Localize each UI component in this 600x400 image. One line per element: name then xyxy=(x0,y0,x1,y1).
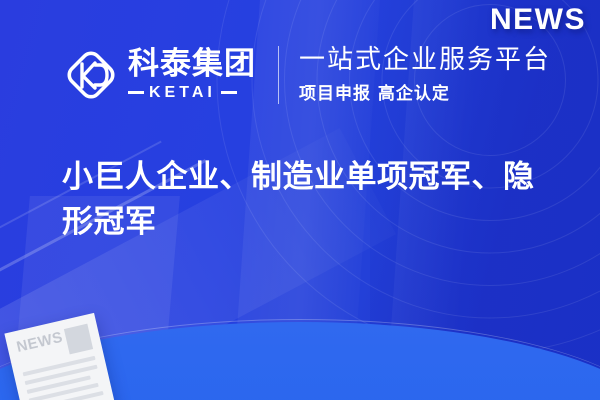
newspaper-text-lines xyxy=(23,356,106,400)
news-badge-label: NEWS xyxy=(490,3,586,37)
banner-header: 科泰集团 KETAI 一站式企业服务平台 项目申报 高企认定 xyxy=(62,40,551,110)
logo-wordmark: 科泰集团 KETAI xyxy=(128,48,256,102)
newspaper-thumbnail-icon xyxy=(64,324,93,355)
logo-company-name-cn: 科泰集团 xyxy=(128,48,256,81)
header-divider xyxy=(278,46,279,104)
logo-dash-left xyxy=(128,91,144,94)
slogan-sub-text: 项目申报 高企认定 xyxy=(299,79,551,104)
banner-title: 小巨人企业、制造业单项冠军、隐形冠军 xyxy=(62,155,562,245)
newspaper-heading: NEWS xyxy=(15,330,64,355)
logo-company-name-en-row: KETAI xyxy=(128,84,256,102)
slogan-block: 一站式企业服务平台 项目申报 高企认定 xyxy=(299,46,551,104)
news-banner: NEWS 科泰集团 KETAI 一站式企业服务平台 项目申报 xyxy=(0,0,600,400)
ketai-logo-icon xyxy=(62,46,120,104)
slogan-main-text: 一站式企业服务平台 xyxy=(299,46,551,76)
logo-company-name-en: KETAI xyxy=(149,84,216,102)
logo-dash-right xyxy=(221,91,237,94)
